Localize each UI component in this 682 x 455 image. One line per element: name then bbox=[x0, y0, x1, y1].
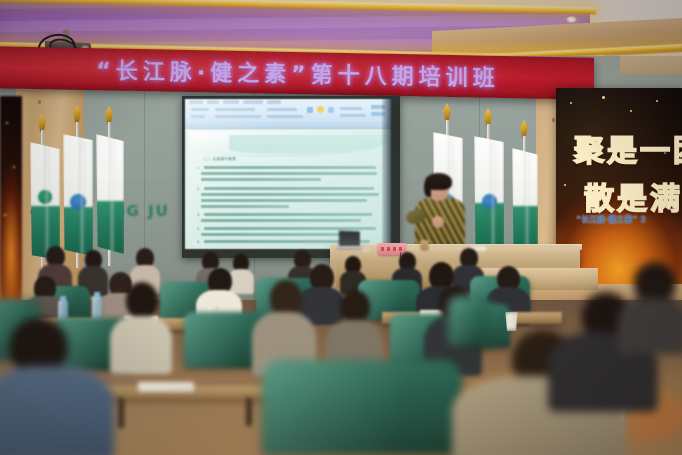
flag-fold bbox=[490, 136, 496, 258]
podium-item bbox=[362, 247, 370, 252]
ceiling-downlight-1 bbox=[566, 16, 577, 23]
attendee-torso bbox=[110, 316, 172, 374]
projection-screen: （二）无菌操作管理 1. 2. 3. 4. 5. bbox=[185, 99, 391, 249]
bottle-cap bbox=[60, 296, 66, 301]
wall-wood-upper-right bbox=[620, 56, 682, 74]
chair-foreground bbox=[262, 360, 462, 455]
flag-fold bbox=[109, 134, 115, 254]
flag bbox=[63, 134, 93, 256]
screen-glare bbox=[185, 99, 391, 249]
podium-cup bbox=[420, 240, 429, 251]
attendee-torso bbox=[618, 298, 682, 354]
presenter-hair-side bbox=[424, 179, 431, 197]
wood-knot bbox=[552, 118, 555, 122]
flag bbox=[30, 142, 60, 260]
attendee-head bbox=[270, 280, 302, 316]
attendee-foreground-left bbox=[0, 318, 114, 455]
attendee-head bbox=[340, 290, 370, 323]
cup-pattern bbox=[506, 319, 516, 323]
flag-fold bbox=[44, 142, 50, 260]
poster-spark bbox=[13, 166, 15, 168]
flag-finial bbox=[443, 103, 451, 121]
desk-leg bbox=[118, 398, 124, 428]
attendee-torso bbox=[0, 366, 114, 455]
flag-group-left bbox=[0, 100, 180, 270]
poster-spark bbox=[656, 100, 658, 102]
poster-spark bbox=[564, 184, 566, 186]
laptop-base bbox=[336, 246, 364, 250]
poster-left bbox=[0, 96, 22, 322]
flag-fold bbox=[79, 134, 85, 256]
photo-scene: NG JU “长江脉·健之素”第十八期培训班 bbox=[0, 0, 682, 455]
poster-spark bbox=[570, 102, 572, 104]
attendee bbox=[110, 282, 172, 374]
flag-finial bbox=[73, 105, 81, 123]
chair-shading bbox=[262, 360, 462, 455]
flag bbox=[474, 136, 504, 258]
poster-spark bbox=[6, 122, 8, 124]
presenter-hand bbox=[432, 216, 444, 228]
poster-spark bbox=[4, 214, 6, 216]
notebook bbox=[138, 382, 194, 392]
flag bbox=[96, 134, 124, 254]
poster-headline-1: 聚是一团 bbox=[574, 126, 682, 170]
attendee-foreground-far-right bbox=[618, 262, 682, 352]
bottle-cap bbox=[94, 292, 100, 297]
poster-headline-2: 散是满 bbox=[584, 174, 682, 218]
poster-spark bbox=[602, 96, 605, 99]
poster-spark bbox=[630, 110, 632, 112]
desk-leg bbox=[246, 398, 252, 426]
poster-subtitle: “长江脉·健之素” 2 bbox=[576, 214, 646, 225]
